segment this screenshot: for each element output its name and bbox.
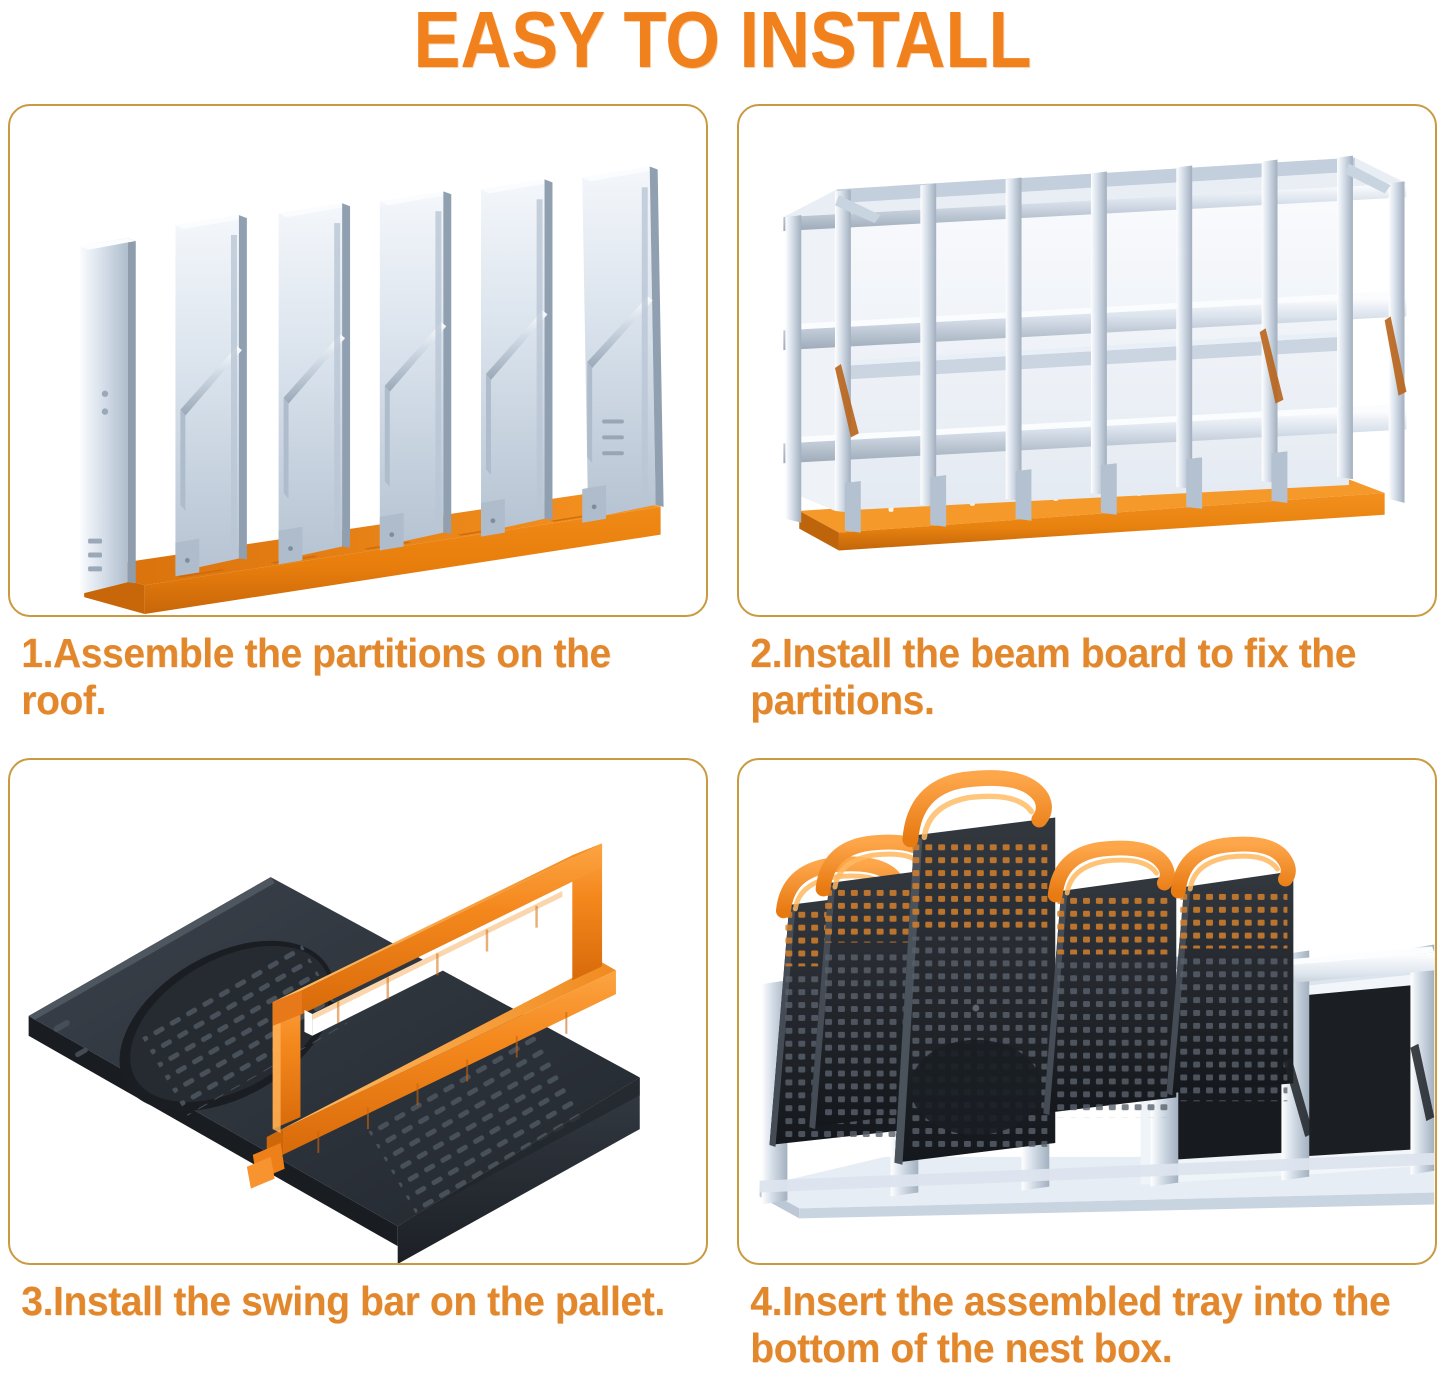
page-title: EASY TO INSTALL — [87, 0, 1359, 86]
step-3-image-panel — [8, 758, 708, 1265]
partitions-on-roof-photo — [10, 106, 706, 615]
easy-to-install-infographic: EASY TO INSTALL — [0, 0, 1445, 1387]
step-2-caption: 2.Install the beam board to fix the part… — [737, 617, 1402, 724]
trays-in-nest-box-photo — [739, 760, 1435, 1263]
step-2-image-panel — [737, 104, 1437, 617]
step-4-image-panel — [737, 758, 1437, 1265]
step-1-image-panel — [8, 104, 708, 617]
step-1-caption: 1.Assemble the partitions on the roof. — [8, 617, 673, 724]
swing-bar-pallet-photo — [10, 760, 706, 1263]
beam-board-frame-photo — [739, 106, 1435, 615]
steps-grid: 1.Assemble the partitions on the roof. 2… — [8, 104, 1437, 1378]
step-4-caption: 4.Insert the assembled tray into the bot… — [737, 1265, 1402, 1372]
step-3-caption: 3.Install the swing bar on the pallet. — [8, 1265, 673, 1325]
